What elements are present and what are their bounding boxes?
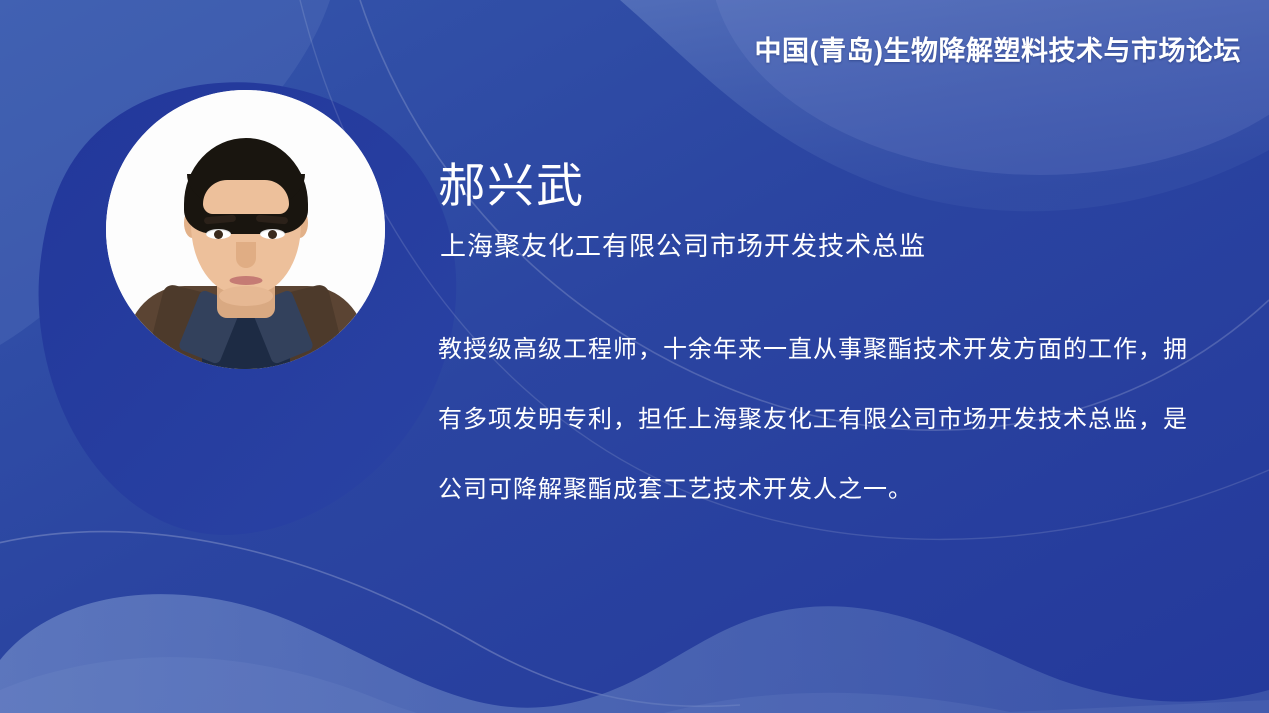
- speaker-job-title: 上海聚友化工有限公司市场开发技术总监: [440, 229, 926, 263]
- bio-line: 教授级高级工程师，十余年来一直从事聚酯技术开发方面的工作，拥: [438, 315, 1198, 385]
- portrait-pupil-left: [214, 230, 223, 239]
- bio-line: 有多项发明专利，担任上海聚友化工有限公司市场开发技术总监，是: [438, 385, 1198, 455]
- portrait-forehead: [203, 180, 289, 214]
- bio-line: 公司可降解聚酯成套工艺技术开发人之一。: [438, 455, 1198, 525]
- portrait-nose: [236, 242, 256, 268]
- portrait-pupil-right: [268, 230, 277, 239]
- portrait-mouth: [229, 276, 262, 285]
- portrait-chin: [219, 286, 273, 306]
- speaker-biography: 教授级高级工程师，十余年来一直从事聚酯技术开发方面的工作，拥 有多项发明专利，担…: [438, 315, 1198, 525]
- speaker-portrait: [106, 90, 385, 369]
- speaker-intro-slide: 中国(青岛)生物降解塑料技术与市场论坛 郝兴武 上海聚友化工有限公司市场开发技术…: [0, 0, 1269, 713]
- speaker-name: 郝兴武: [438, 158, 585, 214]
- forum-header-title: 中国(青岛)生物降解塑料技术与市场论坛: [755, 34, 1241, 68]
